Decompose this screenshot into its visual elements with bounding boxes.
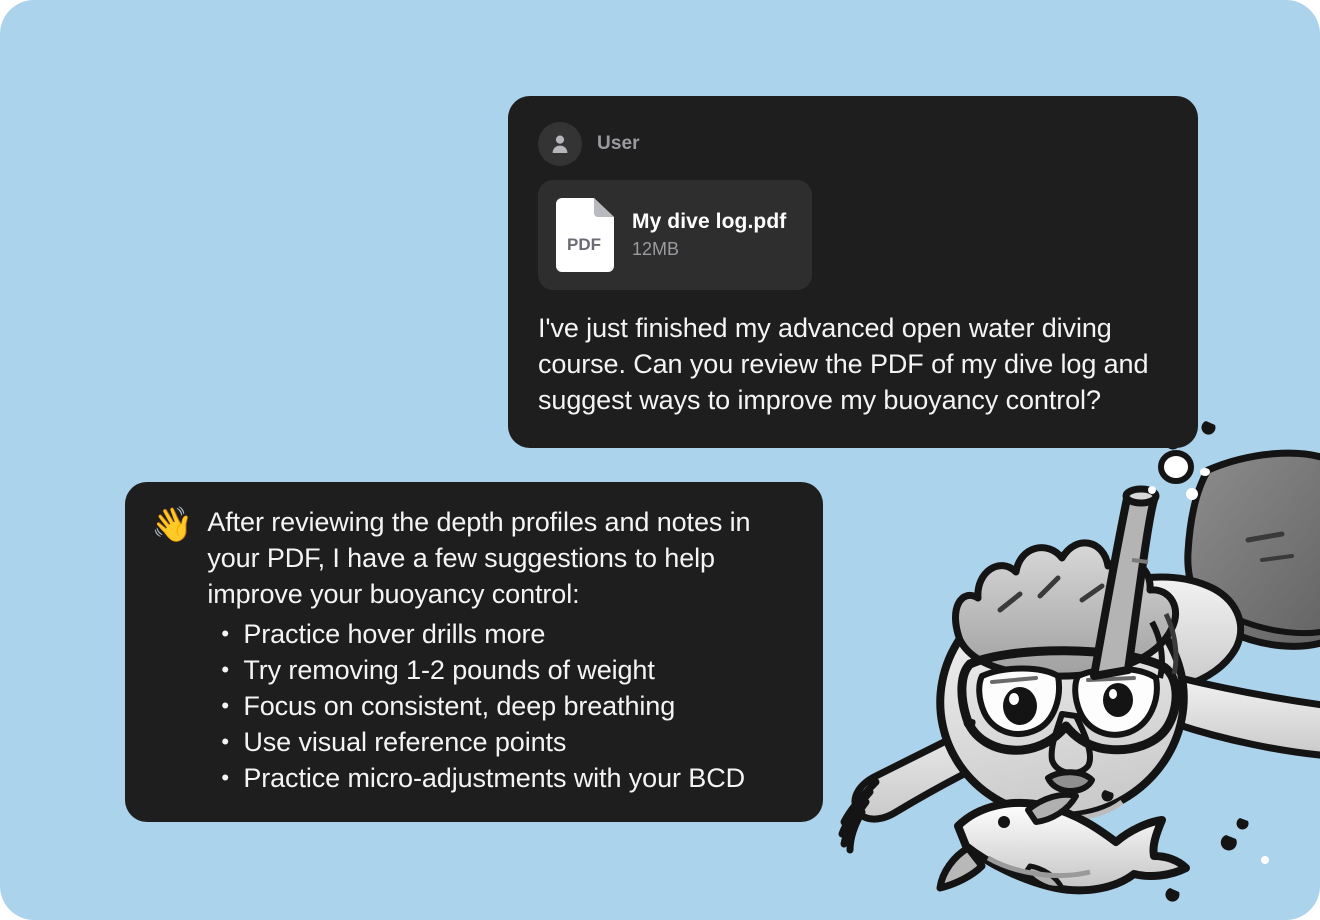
person-avatar-icon — [538, 122, 582, 166]
waving-hand-emoji: 👋 — [151, 506, 193, 544]
message-header: User — [538, 122, 1168, 166]
file-attachment-card[interactable]: PDF My dive log.pdf 12MB — [538, 180, 812, 290]
assistant-intro-text: After reviewing the depth profiles and n… — [207, 504, 795, 612]
user-message-bubble: User PDF My dive log.pdf 12MB I've just … — [508, 96, 1198, 448]
message-author-label: User — [597, 133, 640, 155]
svg-text:PDF: PDF — [567, 235, 601, 254]
fish-illustration — [940, 795, 1186, 891]
user-message-text: I've just finished my advanced open wate… — [538, 310, 1168, 418]
file-name-label: My dive log.pdf — [632, 210, 786, 234]
list-item: Try removing 1-2 pounds of weight — [243, 652, 795, 688]
assistant-content-row: 👋 After reviewing the depth profiles and… — [151, 504, 795, 796]
pdf-file-icon: PDF — [556, 198, 614, 272]
air-bubbles — [964, 421, 1269, 902]
assistant-text-column: After reviewing the depth profiles and n… — [207, 504, 795, 796]
file-size-label: 12MB — [632, 239, 786, 260]
snorkeler-figure — [842, 453, 1320, 850]
chat-canvas: User PDF My dive log.pdf 12MB I've just … — [0, 0, 1320, 920]
list-item: Practice micro-adjustments with your BCD — [243, 760, 795, 796]
list-item: Focus on consistent, deep breathing — [243, 688, 795, 724]
suggestion-list: Practice hover drills more Try removing … — [207, 616, 795, 796]
list-item: Use visual reference points — [243, 724, 795, 760]
assistant-message-bubble: 👋 After reviewing the depth profiles and… — [125, 482, 823, 822]
file-meta: My dive log.pdf 12MB — [632, 210, 786, 260]
list-item: Practice hover drills more — [243, 616, 795, 652]
